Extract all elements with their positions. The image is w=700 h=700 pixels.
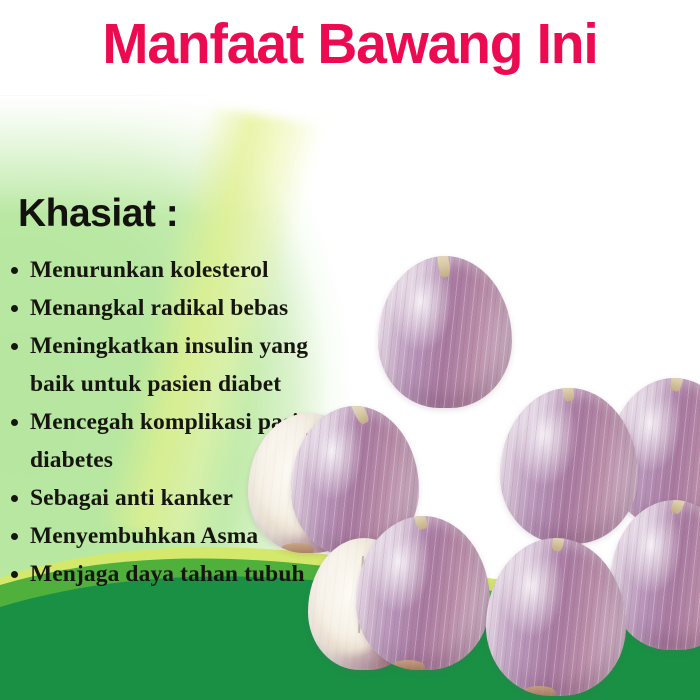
- garlic-bulb: [378, 256, 512, 408]
- list-item: Meningkatkan insulin yang: [8, 327, 380, 365]
- list-item: Menurunkan kolesterol: [8, 251, 380, 289]
- garlic-stem: [560, 388, 575, 402]
- garlic-bulb: [486, 538, 626, 696]
- garlic-stem: [435, 256, 451, 278]
- garlic-stem: [410, 516, 428, 531]
- garlic-bulb: [356, 516, 490, 670]
- page-title: Manfaat Bawang Ini: [11, 12, 690, 76]
- section-heading-khasiat: Khasiat :: [18, 192, 178, 236]
- garlic-root: [280, 543, 314, 553]
- garlic-stem: [669, 378, 686, 392]
- garlic-stem: [551, 538, 566, 552]
- garlic-stem: [348, 406, 371, 425]
- poster-canvas: Manfaat Bawang Ini Khasiat : Menurunkan …: [0, 0, 700, 700]
- list-item-continuation: baik untuk pasien diabet: [8, 365, 380, 403]
- garlic-bulb: [500, 388, 638, 544]
- garlic-root: [522, 686, 556, 696]
- garlic-root: [391, 660, 425, 670]
- garlic-stem: [669, 500, 689, 515]
- list-item: Menangkal radikal bebas: [8, 289, 380, 327]
